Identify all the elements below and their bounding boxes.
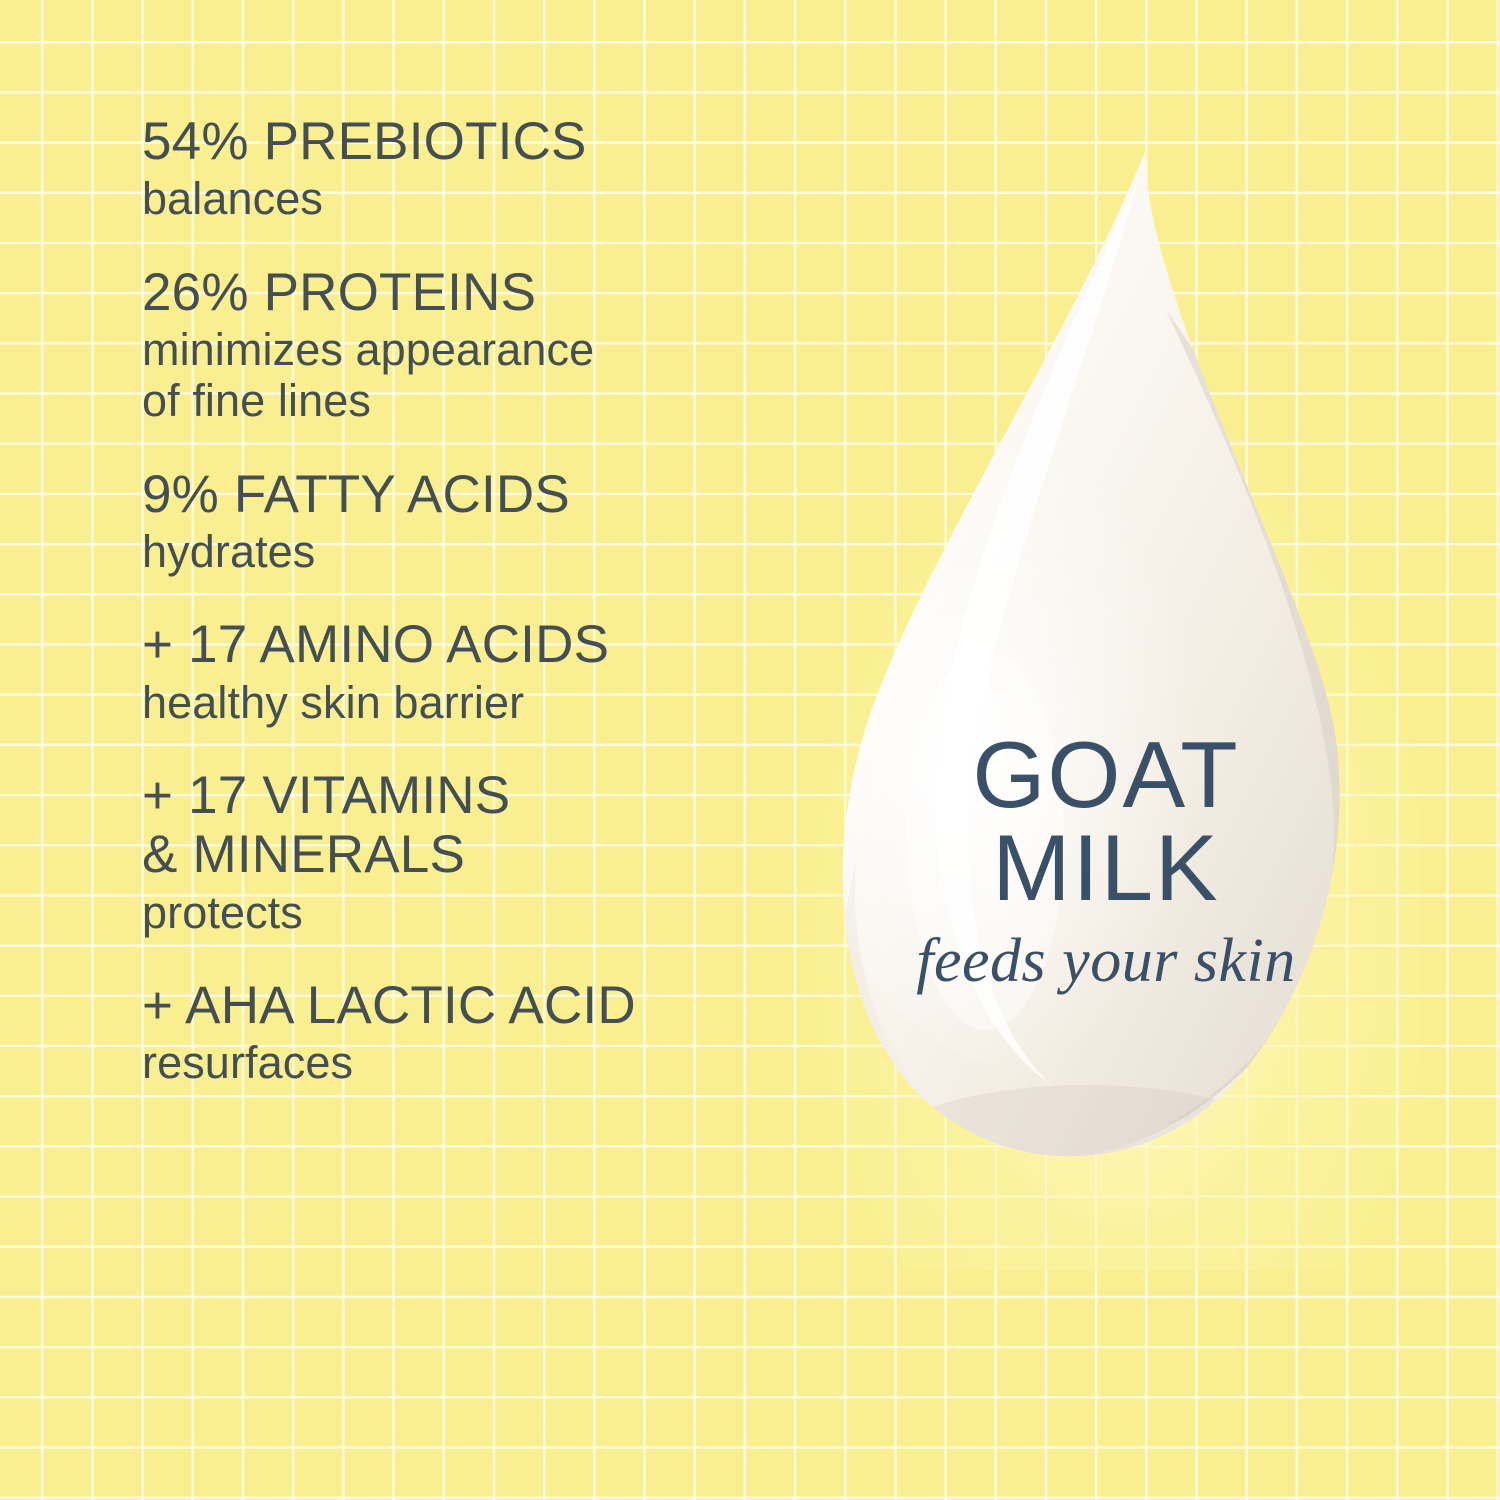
fact-headline: + 17 AMINO ACIDS [142, 615, 842, 674]
milk-droplet-icon [836, 140, 1376, 1230]
fact-headline: 54% PREBIOTICS [142, 112, 842, 171]
fact-item: + 17 VITAMINS & MINERALS protects [142, 766, 842, 938]
fact-item: + 17 AMINO ACIDS healthy skin barrier [142, 615, 842, 728]
fact-item: + AHA LACTIC ACID resurfaces [142, 976, 842, 1089]
fact-item: 54% PREBIOTICS balances [142, 112, 842, 225]
infographic-canvas: 54% PREBIOTICS balances 26% PROTEINS min… [0, 0, 1500, 1500]
fact-headline: + 17 VITAMINS & MINERALS [142, 766, 842, 885]
ingredient-fact-list: 54% PREBIOTICS balances 26% PROTEINS min… [142, 112, 842, 1089]
fact-benefit: healthy skin barrier [142, 677, 842, 728]
fact-headline: 9% FATTY ACIDS [142, 465, 842, 524]
fact-benefit: minimizes appearance of fine lines [142, 324, 842, 427]
fact-benefit: hydrates [142, 526, 842, 577]
fact-headline: 26% PROTEINS [142, 263, 842, 322]
fact-item: 26% PROTEINS minimizes appearance of fin… [142, 263, 842, 427]
fact-benefit: protects [142, 887, 842, 938]
fact-headline: + AHA LACTIC ACID [142, 976, 842, 1035]
fact-benefit: resurfaces [142, 1037, 842, 1088]
fact-benefit: balances [142, 173, 842, 224]
fact-item: 9% FATTY ACIDS hydrates [142, 465, 842, 578]
